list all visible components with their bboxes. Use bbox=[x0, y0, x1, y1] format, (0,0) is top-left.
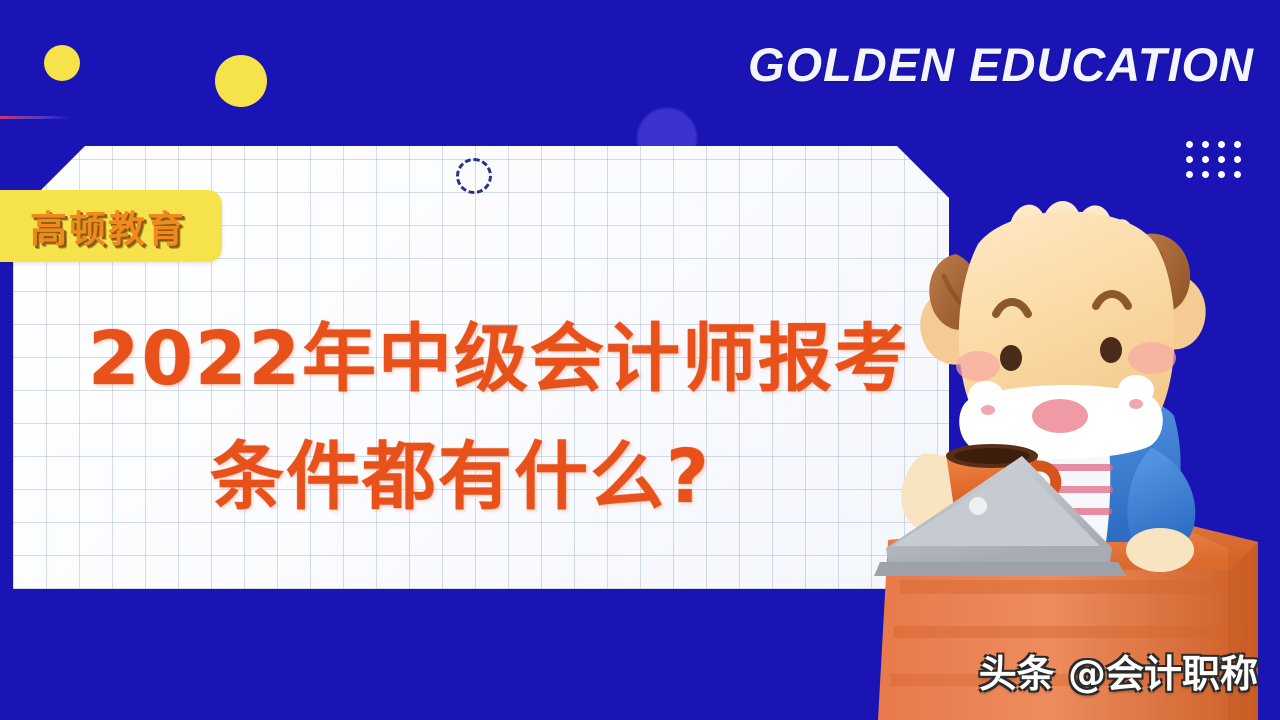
headline-line-2: 条件都有什么? bbox=[88, 418, 948, 536]
yellow-dot-icon bbox=[44, 45, 80, 81]
watermark-label: 头条 @会计职称 bbox=[979, 643, 1258, 698]
yellow-dot-icon bbox=[215, 55, 267, 107]
dashed-circle-icon bbox=[456, 158, 492, 194]
light-streak-decoration bbox=[0, 116, 70, 119]
headline-block: 2022年中级会计师报考 条件都有什么? bbox=[88, 300, 948, 536]
brand-title: GOLDEN EDUCATION bbox=[748, 37, 1254, 92]
brand-badge: 高顿教育 bbox=[0, 190, 222, 262]
cow-mascot-illustration bbox=[860, 118, 1280, 720]
poster-canvas: GOLDEN EDUCATION 高顿教育 2022年中级会计师报考 条件都有什… bbox=[0, 0, 1280, 720]
brand-badge-label: 高顿教育 bbox=[18, 199, 186, 253]
headline-line-1: 2022年中级会计师报考 bbox=[88, 300, 948, 418]
